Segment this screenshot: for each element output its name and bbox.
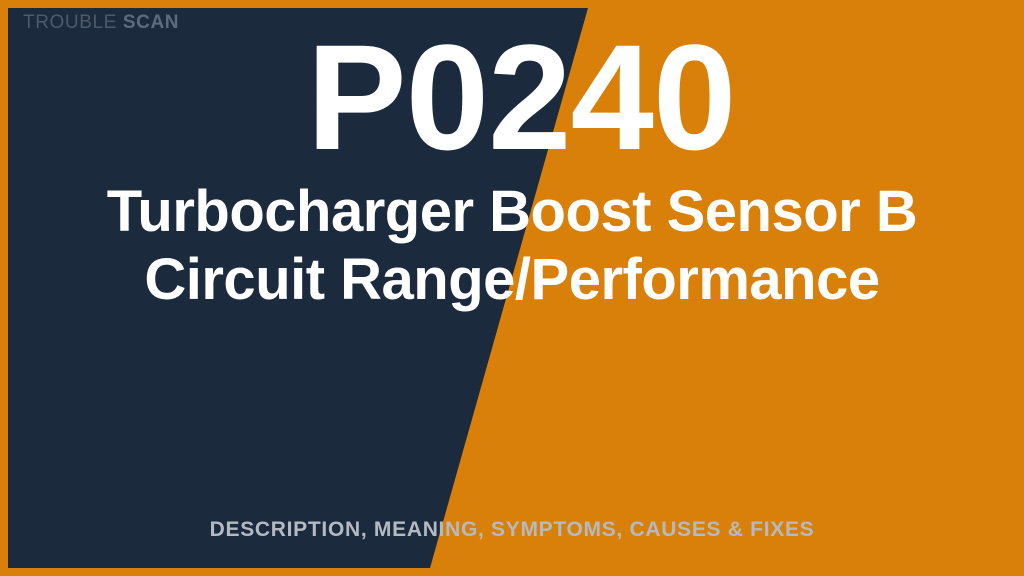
brand-logo-light-word: TROUBLE bbox=[23, 12, 117, 33]
brand-logo: TROUBLE SCAN bbox=[23, 12, 179, 34]
navy-angled-panel bbox=[0, 0, 1024, 576]
brand-logo-bold-word: SCAN bbox=[123, 12, 179, 33]
dtc-code-banner: TROUBLE SCAN P0240 Turbocharger Boost Se… bbox=[0, 0, 1024, 576]
